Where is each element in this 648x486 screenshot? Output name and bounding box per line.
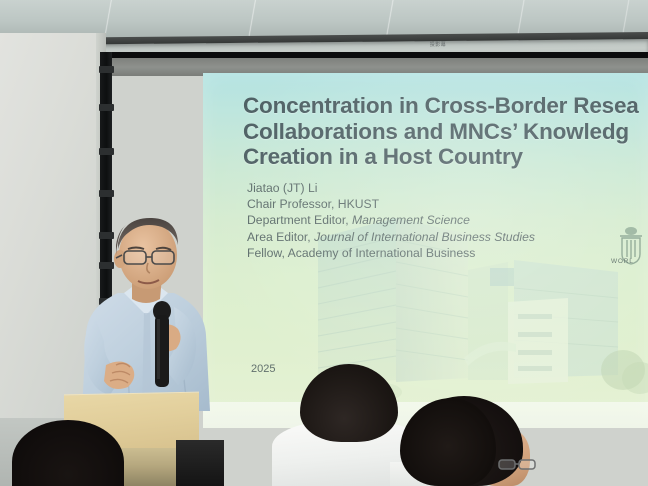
slide-title: Concentration in Cross-Border Resea Coll… [243, 93, 648, 170]
curtain-clip [99, 104, 114, 111]
slide-title-line-3: Creation in a Host Country [243, 144, 648, 170]
gesturing-hand [104, 361, 134, 389]
eyeglasses [116, 251, 174, 264]
logo-caption: WORL [611, 258, 648, 265]
housing-label-text: 投影幕 [408, 41, 468, 49]
slide-title-line-2: Collaborations and MNCs’ Knowledg [243, 119, 648, 145]
byline-line-5: Fellow, Academy of International Busines… [247, 245, 647, 261]
audience-eyeglasses-icon [498, 458, 538, 471]
slide-byline: Jiatao (JT) Li Chair Professor, HKUST De… [247, 180, 647, 261]
projected-slide: Concentration in Cross-Border Resea Coll… [203, 73, 648, 428]
podium-shadow-block [176, 440, 224, 486]
byline-line-4: Area Editor, Journal of International Bu… [247, 229, 647, 245]
speaker-at-podium [66, 215, 226, 415]
byline-line-1: Jiatao (JT) Li [247, 180, 647, 196]
presentation-photo-scene: 投影幕 [0, 0, 648, 486]
curtain-clip [99, 190, 114, 197]
byline-line-2: Chair Professor, HKUST [247, 196, 647, 212]
slide-title-line-1: Concentration in Cross-Border Resea [243, 93, 648, 119]
curtain-clip [99, 66, 114, 73]
slide-year: 2025 [251, 363, 275, 375]
handheld-microphone [153, 301, 171, 387]
curtain-clip [99, 148, 114, 155]
byline-line-3: Department Editor, Management Science [247, 212, 647, 228]
